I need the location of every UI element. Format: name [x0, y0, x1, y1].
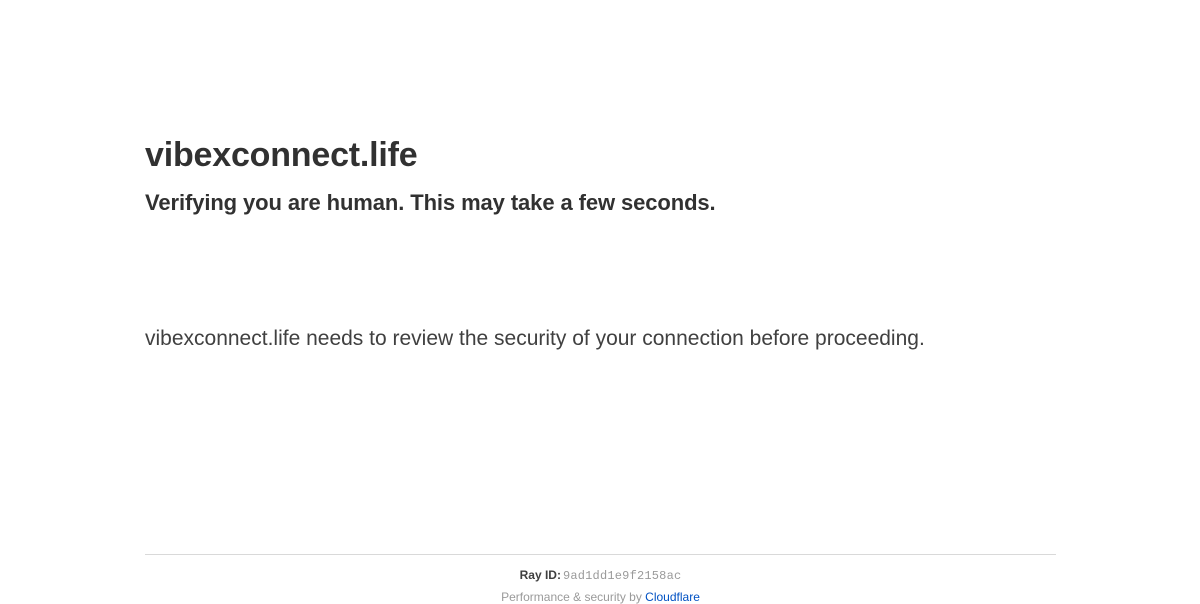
cloudflare-link[interactable]: Cloudflare: [645, 590, 700, 604]
ray-id-label: Ray ID:: [520, 568, 561, 582]
challenge-description: vibexconnect.life needs to review the se…: [145, 321, 945, 357]
challenge-content: vibexconnect.life Verifying you are huma…: [145, 0, 1056, 357]
ray-id-line: Ray ID:9ad1dd1e9f2158ac: [145, 568, 1056, 583]
footer-content: Ray ID:9ad1dd1e9f2158ac Performance & se…: [145, 555, 1056, 604]
ray-id-value: 9ad1dd1e9f2158ac: [561, 569, 681, 583]
cloudflare-credit: Performance & security by Cloudflare: [145, 583, 1056, 604]
challenge-status-text: Verifying you are human. This may take a…: [145, 177, 1056, 217]
challenge-page: vibexconnect.life Verifying you are huma…: [0, 0, 1200, 600]
page-title: vibexconnect.life: [145, 0, 1056, 177]
credit-prefix-text: Performance & security by: [501, 590, 642, 604]
challenge-widget-slot[interactable]: [145, 229, 1056, 321]
page-footer: Ray ID:9ad1dd1e9f2158ac Performance & se…: [145, 554, 1056, 604]
